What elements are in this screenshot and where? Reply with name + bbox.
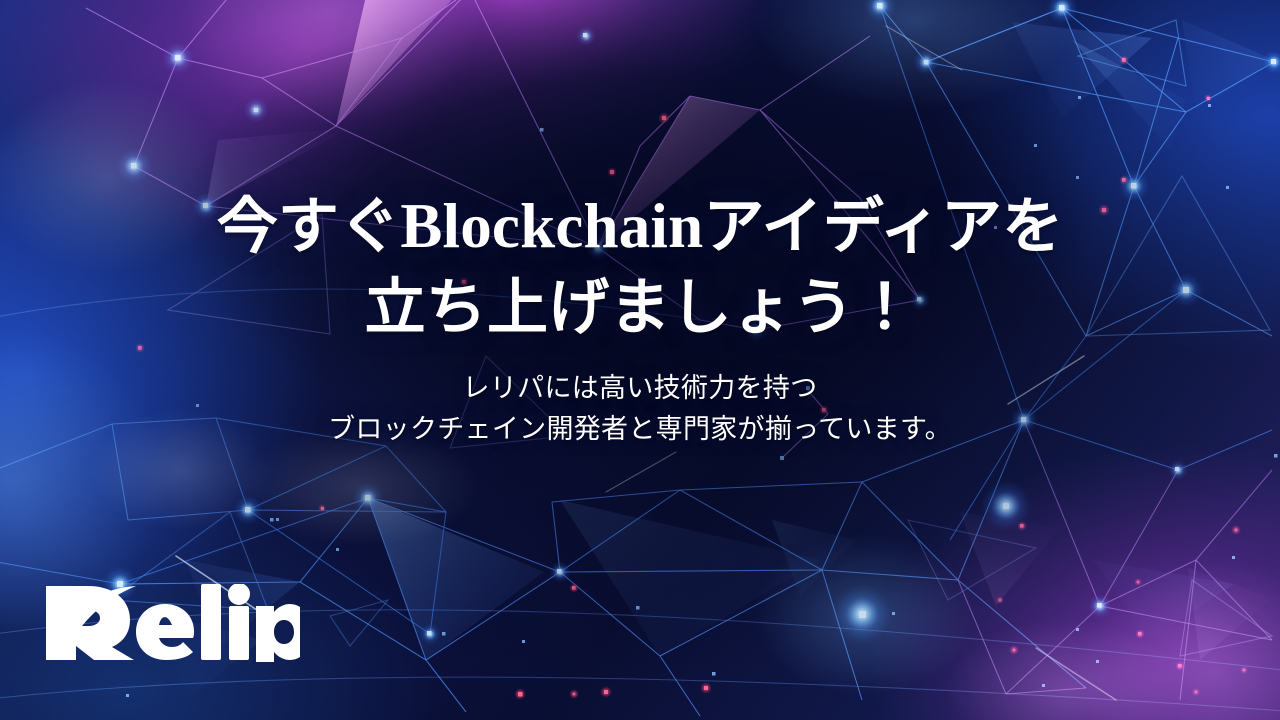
page-subtitle: レリパには高い技術力を持つ ブロックチェイン開発者と専門家が揃っています。	[0, 368, 1280, 450]
title-lead-ja: 今すぐ	[217, 191, 401, 262]
relipa-logo[interactable]: Relipa	[44, 584, 300, 662]
page-title: 今すぐBlockchainアイディアを	[0, 186, 1280, 267]
subtitle-line-2: ブロックチェイン開発者と専門家が揃っています。	[0, 409, 1280, 450]
subtitle-line-1: レリパには高い技術力を持つ	[0, 368, 1280, 409]
slide-content: 今すぐBlockchainアイディアを 立ち上げましょう！ レリパには高い技術力…	[0, 186, 1280, 450]
title-tail-ja: アイディアを	[703, 191, 1063, 262]
title-latin-blockchain: Blockchain	[400, 191, 703, 261]
slide-canvas: 今すぐBlockchainアイディアを 立ち上げましょう！ レリパには高い技術力…	[0, 0, 1280, 720]
title-line2-text: 立ち上げましょう！	[365, 272, 916, 343]
page-title-line2: 立ち上げましょう！	[0, 267, 1280, 348]
relipa-logo-icon: Relipa	[44, 584, 300, 662]
